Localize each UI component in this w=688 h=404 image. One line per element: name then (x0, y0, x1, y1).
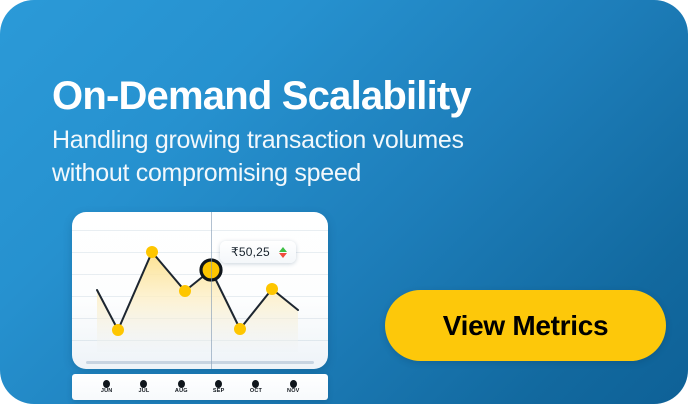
subtitle-line-1: Handling growing transaction volumes (52, 124, 612, 157)
price-stepper[interactable] (279, 247, 287, 258)
month-tick-jul[interactable]: JUL (125, 380, 162, 395)
month-axis-strip: JUN JUL AUG SEP OCT NOV (72, 374, 328, 400)
chart-point-aug (179, 285, 191, 297)
chart-crosshair (211, 212, 212, 369)
promo-card: On-Demand Scalability Handling growing t… (0, 0, 688, 404)
month-label: JUN (101, 389, 113, 395)
chart-point-jun (112, 324, 124, 336)
chart-point-oct (234, 323, 246, 335)
metrics-chart-widget: ₹50,25 JUN JUL AUG (72, 212, 328, 400)
month-label: JUL (138, 389, 149, 395)
month-dot-icon (215, 380, 222, 388)
line-chart-plot (72, 212, 328, 369)
triangle-up-icon[interactable] (279, 247, 287, 252)
triangle-down-icon[interactable] (279, 253, 287, 258)
month-tick-aug[interactable]: AUG (163, 380, 200, 395)
month-tick-jun[interactable]: JUN (88, 380, 125, 395)
page-title: On-Demand Scalability (52, 75, 632, 117)
subtitle-line-2: without compromising speed (52, 157, 612, 190)
chart-point-nov (266, 283, 278, 295)
month-dot-icon (103, 380, 110, 388)
month-dot-icon (178, 380, 185, 388)
month-dot-icon (252, 380, 259, 388)
month-tick-oct[interactable]: OCT (237, 380, 274, 395)
chart-baseline-bar (86, 361, 314, 364)
month-label: AUG (175, 389, 188, 395)
chart-card[interactable]: ₹50,25 (72, 212, 328, 369)
price-value: ₹50,25 (231, 245, 270, 259)
price-badge[interactable]: ₹50,25 (220, 241, 296, 263)
chart-point-jul (146, 246, 158, 258)
chart-area-fill (97, 252, 298, 352)
month-label: NOV (287, 389, 300, 395)
month-label: SEP (213, 389, 225, 395)
page-subtitle: Handling growing transaction volumes wit… (52, 124, 612, 189)
month-dot-icon (290, 380, 297, 388)
view-metrics-button[interactable]: View Metrics (385, 290, 666, 361)
month-dot-icon (140, 380, 147, 388)
month-label: OCT (250, 389, 262, 395)
month-tick-nov[interactable]: NOV (275, 380, 312, 395)
month-tick-sep[interactable]: SEP (200, 380, 237, 395)
